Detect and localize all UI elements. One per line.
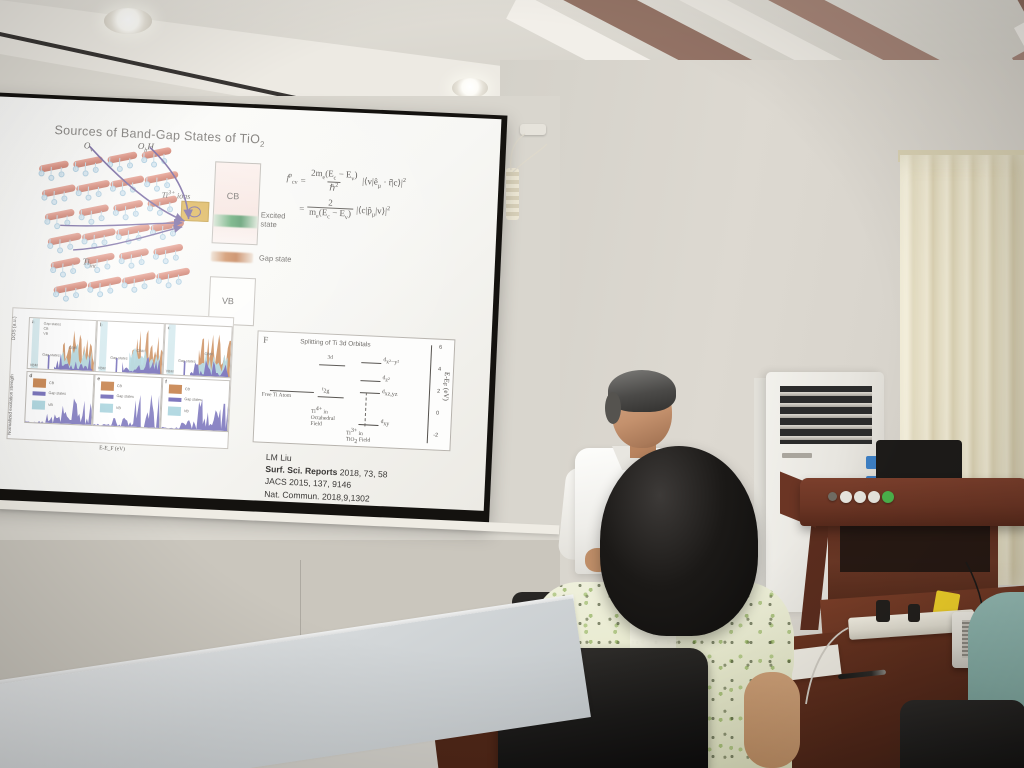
dos-xlabel: E-E_F (eV) [99,445,125,452]
dos-x-tick: -5 [33,425,36,426]
energy-axis-label: E-EF (eV) [440,372,451,401]
oscillator-strength-equation: fpcv = 2me(Ec − Ev) ℏ2 |⟨v|êµ · r̂|c⟩|2 … [285,168,477,233]
lattice-bond [133,279,134,287]
dos-panel-d: dCBGap statesVB-6-5-4-3-2-101234 [24,371,94,426]
dos-legend-entry: CB [43,327,48,331]
downlight-icon-1 [104,8,152,34]
dos-legend-swatch-gap [100,394,113,399]
label-dxy: dxy [380,419,389,427]
dos-ylabel-bottom: Normalized excitation strength [7,374,15,435]
dos-x-tick: -5 [101,428,104,429]
dos-annotation-cbm: CBM [204,352,212,356]
dos-legend-swatch-vb [100,403,113,413]
downlight-icon-2 [452,78,488,98]
conduction-band-box: CB [212,161,262,245]
dos-legend-swatch-vb [168,406,181,416]
podium-button-4[interactable] [868,491,880,503]
level-t2g [318,396,344,398]
dos-gap-state-peak [115,358,117,372]
dos-legend-swatch-cb [169,384,182,394]
podium-button-5[interactable] [882,491,894,503]
dos-annotation-cbm: CBM [69,346,77,350]
excited-state-band [213,214,257,228]
plug-1 [876,600,890,622]
dos-annotation-gap-states: Gap states [42,353,60,358]
dos-curves [96,321,164,374]
lattice-bond [62,263,63,271]
dos-x-tick: -6 [95,428,98,429]
dos-legend-entry: Gap states [44,322,62,327]
level-dx2y2 [361,362,381,364]
podium-button-3[interactable] [854,491,866,503]
excited-state-label: Excited state [260,211,285,230]
dos-legend-label-vb: VB [184,409,189,413]
gap-state-bar [211,251,253,263]
dos-annotation-gap-states: Gap states [178,359,196,364]
dos-legend-entry: VB [43,332,48,336]
podium-button-2[interactable] [840,491,852,503]
cb-label: CB [226,191,239,202]
orbital-splitting-panel: F Splitting of Ti 3d Orbitals Free Ti At… [253,330,456,451]
dos-x-tick: -6 [163,431,166,432]
tio2-field-label: Ti3+ in TiO2 Field [346,428,371,446]
lattice-oxygen-atom [131,287,137,293]
plug-2 [908,604,920,622]
label-t2g: t2g [322,386,330,394]
dos-annotation-vbm: VBM [166,369,174,373]
dos-x-ticks: -6-5-4-3-2-101234 [25,425,91,426]
podium-button-1[interactable] [828,492,837,501]
dos-x-ticks: -6-5-4-3-2-101234 [93,428,159,429]
dos-legend-label-vb: VB [116,406,121,410]
level-dxz [360,392,380,394]
dos-panel-b: bVBMGap statesCBM [95,320,165,375]
energy-axis [427,345,432,443]
dos-panel-e: eCBGap statesVB-6-5-4-3-2-101234 [92,374,162,429]
label-dxz: dxz,yz [382,389,398,398]
dos-x-tick: -6 [27,425,30,426]
dos-legend-label-cb: CB [49,381,54,385]
dos-legend-label-cb: CB [117,384,122,388]
dos-ylabel-top: DOS (a.u.) [11,316,18,340]
dos-annotation-vbm: VBM [98,366,106,370]
projection-screen: Sources of Band-Gap States of TiO2 Ov Ob… [0,96,501,511]
ceiling-wood-trim-right-1 [1012,0,1024,16]
chair-right [900,700,1024,768]
dos-legend-label-gap: Gap states [184,397,202,402]
dos-legend-label-gap: Gap states [116,394,134,399]
conference-room-photo: Sources of Band-Gap States of TiO2 Ov Ob… [0,0,1024,768]
audience-woman-arm [744,672,800,768]
dos-legend-swatch-vb [32,400,45,410]
dos-legend-label-cb: CB [185,387,190,391]
axis-tick-2: 2 [437,389,440,395]
level-eg [319,364,345,366]
axis-tick-0: 6 [439,345,442,351]
free-atom-label: Free Ti Atom [262,392,292,399]
label-dz2: dz² [382,375,390,383]
lattice-bond [168,274,169,282]
lattice-oxygen-atom [97,291,103,297]
dos-legend-swatch-cb [33,378,46,388]
slide-citations: LM Liu Surf. Sci. Reports 2018, 73, 58 J… [264,451,388,505]
level-dxy [358,424,378,426]
dos-annotation-cbm: CBM [136,349,144,353]
dos-legend-label-gap: Gap states [48,391,66,396]
axis-tick-3: 0 [436,411,439,417]
power-cable-icon [800,624,870,714]
dos-panel-f: fCBGap statesVB-6-5-4-3-2-101234 [160,377,230,432]
label-3d: 3d [327,355,333,361]
dos-annotation-gap-states: Gap states [110,356,128,361]
splitting-dash-line [364,392,367,426]
lattice-oxygen-atom [60,271,66,277]
ac-vent-grille [780,386,872,444]
dos-panel-c: cVBMGap statesCBM [163,323,233,378]
dos-curves [28,318,96,371]
dos-legend-label-vb: VB [48,403,53,407]
lattice-bond [65,288,66,296]
axis-tick-1: 4 [438,367,441,373]
dos-panel-a: aVBMGap statesCBMGap statesCBVB [27,317,97,372]
gap-state-label: Gap state [259,254,292,264]
level-dz2 [360,380,380,382]
label-dx2y2: dx²−y² [383,357,399,366]
presenter-hair-side [605,392,621,424]
octahedral-label: Ti4+ in Octahedral Field [310,406,335,428]
dos-panel-grid: aVBMGap statesCBMGap statesCBVBbVBMGap s… [13,308,233,318]
podium-desktop [800,478,1024,526]
ac-brand-badge [782,453,812,458]
vb-label: VB [222,296,234,307]
lattice-oxygen-atom [63,296,69,302]
dos-chart: DOS (a.u.) Normalized excitation strengt… [6,307,234,449]
dos-legend-swatch-gap [32,391,45,396]
dos-curves [164,324,232,377]
dos-x-tick: -5 [169,431,172,432]
dos-x-ticks: -6-5-4-3-2-101234 [161,431,227,432]
orbital-panel-title: Splitting of Ti 3d Orbitals [300,338,371,348]
dos-annotation-vbm: VBM [30,363,38,367]
audience-woman-hair [600,446,758,636]
dos-legend-swatch-gap [168,397,181,402]
lattice-bond [99,283,100,291]
presentation-slide: Sources of Band-Gap States of TiO2 Ov Ob… [0,96,501,511]
charge-transfer-arrows [23,132,219,270]
lattice-oxygen-atom [165,282,171,288]
axis-tick-4: -2 [433,432,438,438]
dos-legend-swatch-cb [101,381,114,391]
panel-letter-f: F [263,335,268,345]
